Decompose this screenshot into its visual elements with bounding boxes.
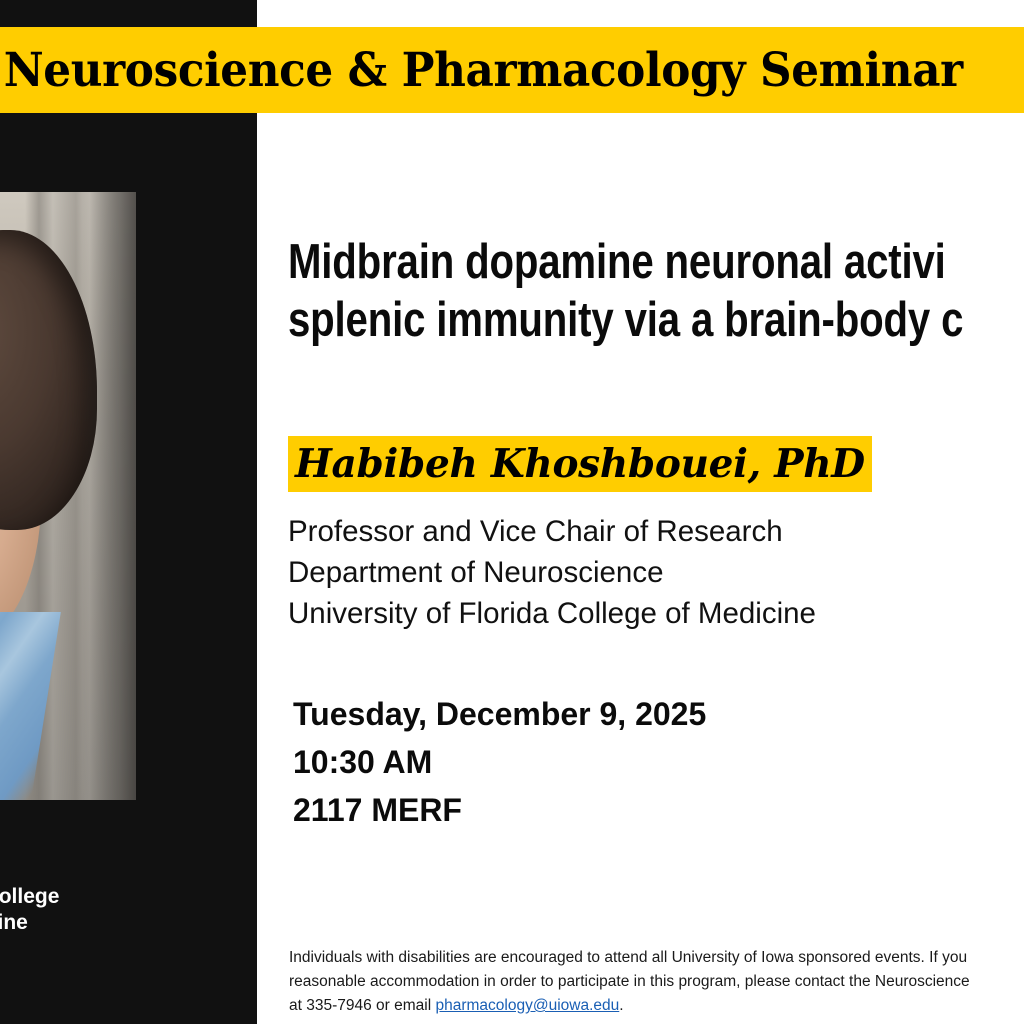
- talk-title-line-2: splenic immunity via a brain-body c: [288, 291, 928, 349]
- talk-title-line-1: Midbrain dopamine neuronal activi: [288, 233, 928, 291]
- disclaimer-line-1: Individuals with disabilities are encour…: [289, 946, 1024, 970]
- logo-line-1: rver College: [0, 884, 238, 910]
- event-details: Tuesday, December 9, 2025 10:30 AM 2117 …: [293, 690, 706, 834]
- disclaimer-line-3: at 335-7946 or email pharmacology@uiowa.…: [289, 994, 1024, 1018]
- affiliation-line-1: Professor and Vice Chair of Research: [288, 511, 816, 552]
- talk-title: Midbrain dopamine neuronal activi spleni…: [288, 233, 928, 349]
- event-time: 10:30 AM: [293, 738, 706, 786]
- event-location: 2117 MERF: [293, 786, 706, 834]
- affiliation-line-2: Department of Neuroscience: [288, 552, 816, 593]
- speaker-name-block: Habibeh Khoshbouei, PhD: [288, 436, 872, 492]
- event-date: Tuesday, December 9, 2025: [293, 690, 706, 738]
- speaker-affiliation: Professor and Vice Chair of Research Dep…: [288, 511, 816, 634]
- logo-line-2: Medicine: [0, 910, 238, 936]
- seminar-series-title: Neuroscience & Pharmacology Seminar: [0, 47, 963, 94]
- photo-right-shading: [82, 192, 136, 800]
- seminar-poster: Neuroscience & Pharmacology Seminar Midb…: [0, 0, 1024, 1024]
- carver-college-logo: rver College Medicine: [0, 884, 238, 936]
- affiliation-line-3: University of Florida College of Medicin…: [288, 593, 816, 634]
- header-banner: Neuroscience & Pharmacology Seminar: [0, 27, 1024, 113]
- speaker-photo: [0, 192, 136, 800]
- main-content: Midbrain dopamine neuronal activi spleni…: [257, 113, 1024, 1024]
- speaker-name: Habibeh Khoshbouei, PhD: [288, 436, 872, 492]
- disclaimer-line-3-prefix: at 335-7946 or email: [289, 997, 435, 1014]
- accessibility-disclaimer: Individuals with disabilities are encour…: [289, 946, 1024, 1018]
- disclaimer-line-3-suffix: .: [619, 997, 623, 1014]
- disclaimer-line-2: reasonable accommodation in order to par…: [289, 970, 1024, 994]
- pharmacology-email-link[interactable]: pharmacology@uiowa.edu: [435, 997, 619, 1014]
